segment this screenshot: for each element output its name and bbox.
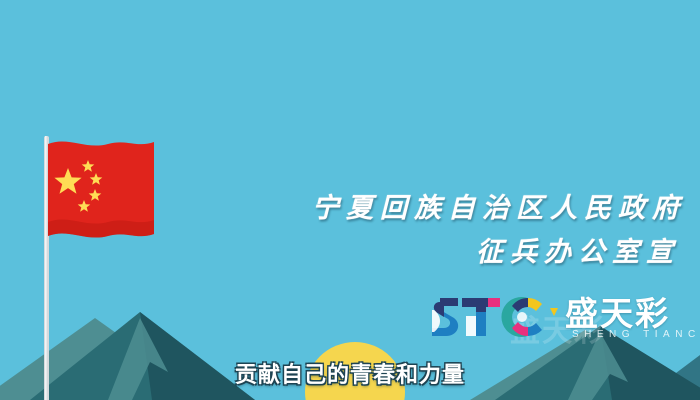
video-frame: 宁夏回族自治区人民政府 征兵办公室宣 盛天彩 [0,0,700,400]
flag-pole-highlight [45,136,47,400]
flag-group [20,130,180,400]
